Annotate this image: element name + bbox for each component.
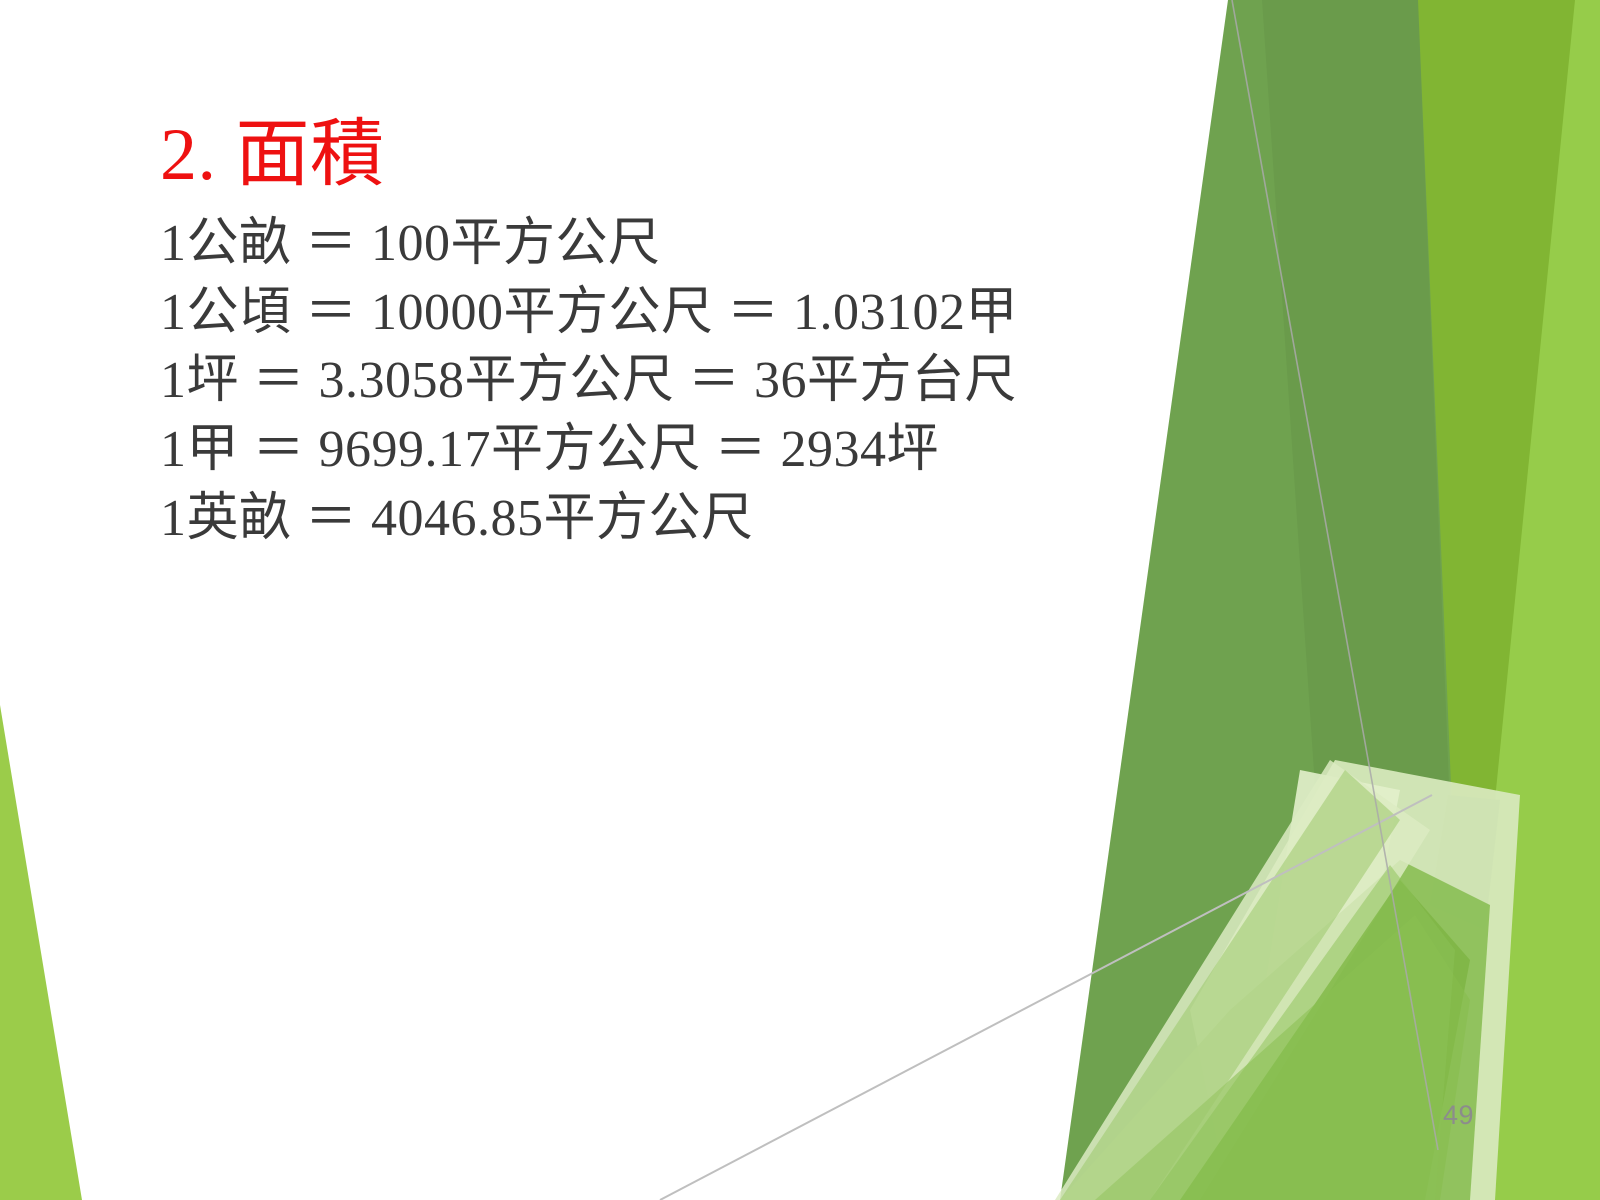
decor-band-vivid [1150, 0, 1575, 1200]
decor-band-light-right [1432, 0, 1600, 1200]
decor-hairline-steep [1232, 0, 1438, 1150]
decor-triangle-deep [1430, 795, 1500, 930]
slide-content: 2. 面積 1公畝 ＝ 100平方公尺 1公頃 ＝ 10000平方公尺 ＝ 1.… [160, 118, 1180, 553]
conversion-line-4: 1甲 ＝ 9699.17平方公尺 ＝ 2934坪 [160, 416, 1180, 485]
conversion-line-3: 1坪 ＝ 3.3058平方公尺 ＝ 36平方台尺 [160, 347, 1180, 416]
conversion-line-1: 1公畝 ＝ 100平方公尺 [160, 210, 1180, 279]
conversion-line-5: 1英畝 ＝ 4046.85平方公尺 [160, 485, 1180, 554]
decor-sweep-pale [1055, 760, 1430, 1200]
decor-band-olive-shade [1262, 0, 1452, 1010]
decor-sweep-green [1180, 880, 1470, 1200]
slide-canvas: 2. 面積 1公畝 ＝ 100平方公尺 1公頃 ＝ 10000平方公尺 ＝ 1.… [0, 0, 1600, 1200]
conversion-line-2: 1公頃 ＝ 10000平方公尺 ＝ 1.03102甲 [160, 279, 1180, 348]
decor-big-diagonal [1150, 865, 1455, 1200]
decor-hairline-long [660, 795, 1432, 1200]
decor-wedge-bottom-left [0, 705, 82, 1200]
page-title: 2. 面積 [160, 118, 1180, 192]
decor-sheet-pale-left [1230, 770, 1400, 1200]
decor-sweep-to-left [1060, 770, 1400, 1200]
decor-sweep-green-wide [1095, 915, 1470, 1200]
decor-sheet-midgreen [1060, 860, 1490, 1200]
page-number: 49 [1443, 1100, 1474, 1131]
decor-sheet-pale [1190, 760, 1520, 1200]
